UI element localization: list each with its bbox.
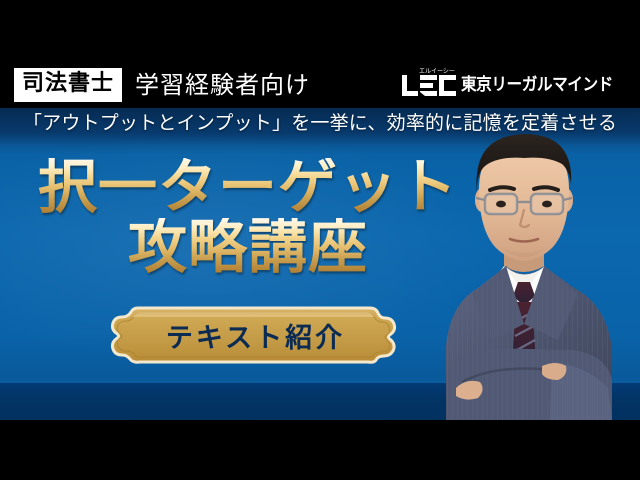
top-letterbox-bar: 司法書士 学習経験者向け エルイーシー 東京リーガルマインド (0, 0, 640, 108)
qualification-badge: 司法書士 (14, 68, 122, 102)
text-introduction-badge[interactable]: テキスト紹介 (108, 306, 400, 364)
lec-letter-l-icon (402, 75, 418, 96)
lec-logomark-icon: エルイーシー (402, 74, 456, 96)
video-thumbnail-slide: 司法書士 学習経験者向け エルイーシー 東京リーガルマインド 「アウトプットとイ… (0, 0, 640, 480)
lec-logo-kana-tick: エルイーシー (419, 69, 455, 75)
lec-letter-e-icon (420, 75, 437, 96)
bottom-letterbox-bar (0, 420, 640, 480)
presenter-portrait (432, 126, 640, 420)
main-title-line-2: 攻略講座 (18, 218, 478, 276)
lec-letter-c-icon (439, 75, 456, 96)
main-title: 択一ターゲット 攻略講座 (18, 158, 478, 276)
header-tagline: 学習経験者向け (135, 73, 310, 97)
main-title-line-1: 択一ターゲット (18, 158, 478, 216)
lec-company-name: 東京リーガルマインド (461, 77, 613, 94)
lec-logo: エルイーシー 東京リーガルマインド (402, 70, 626, 100)
